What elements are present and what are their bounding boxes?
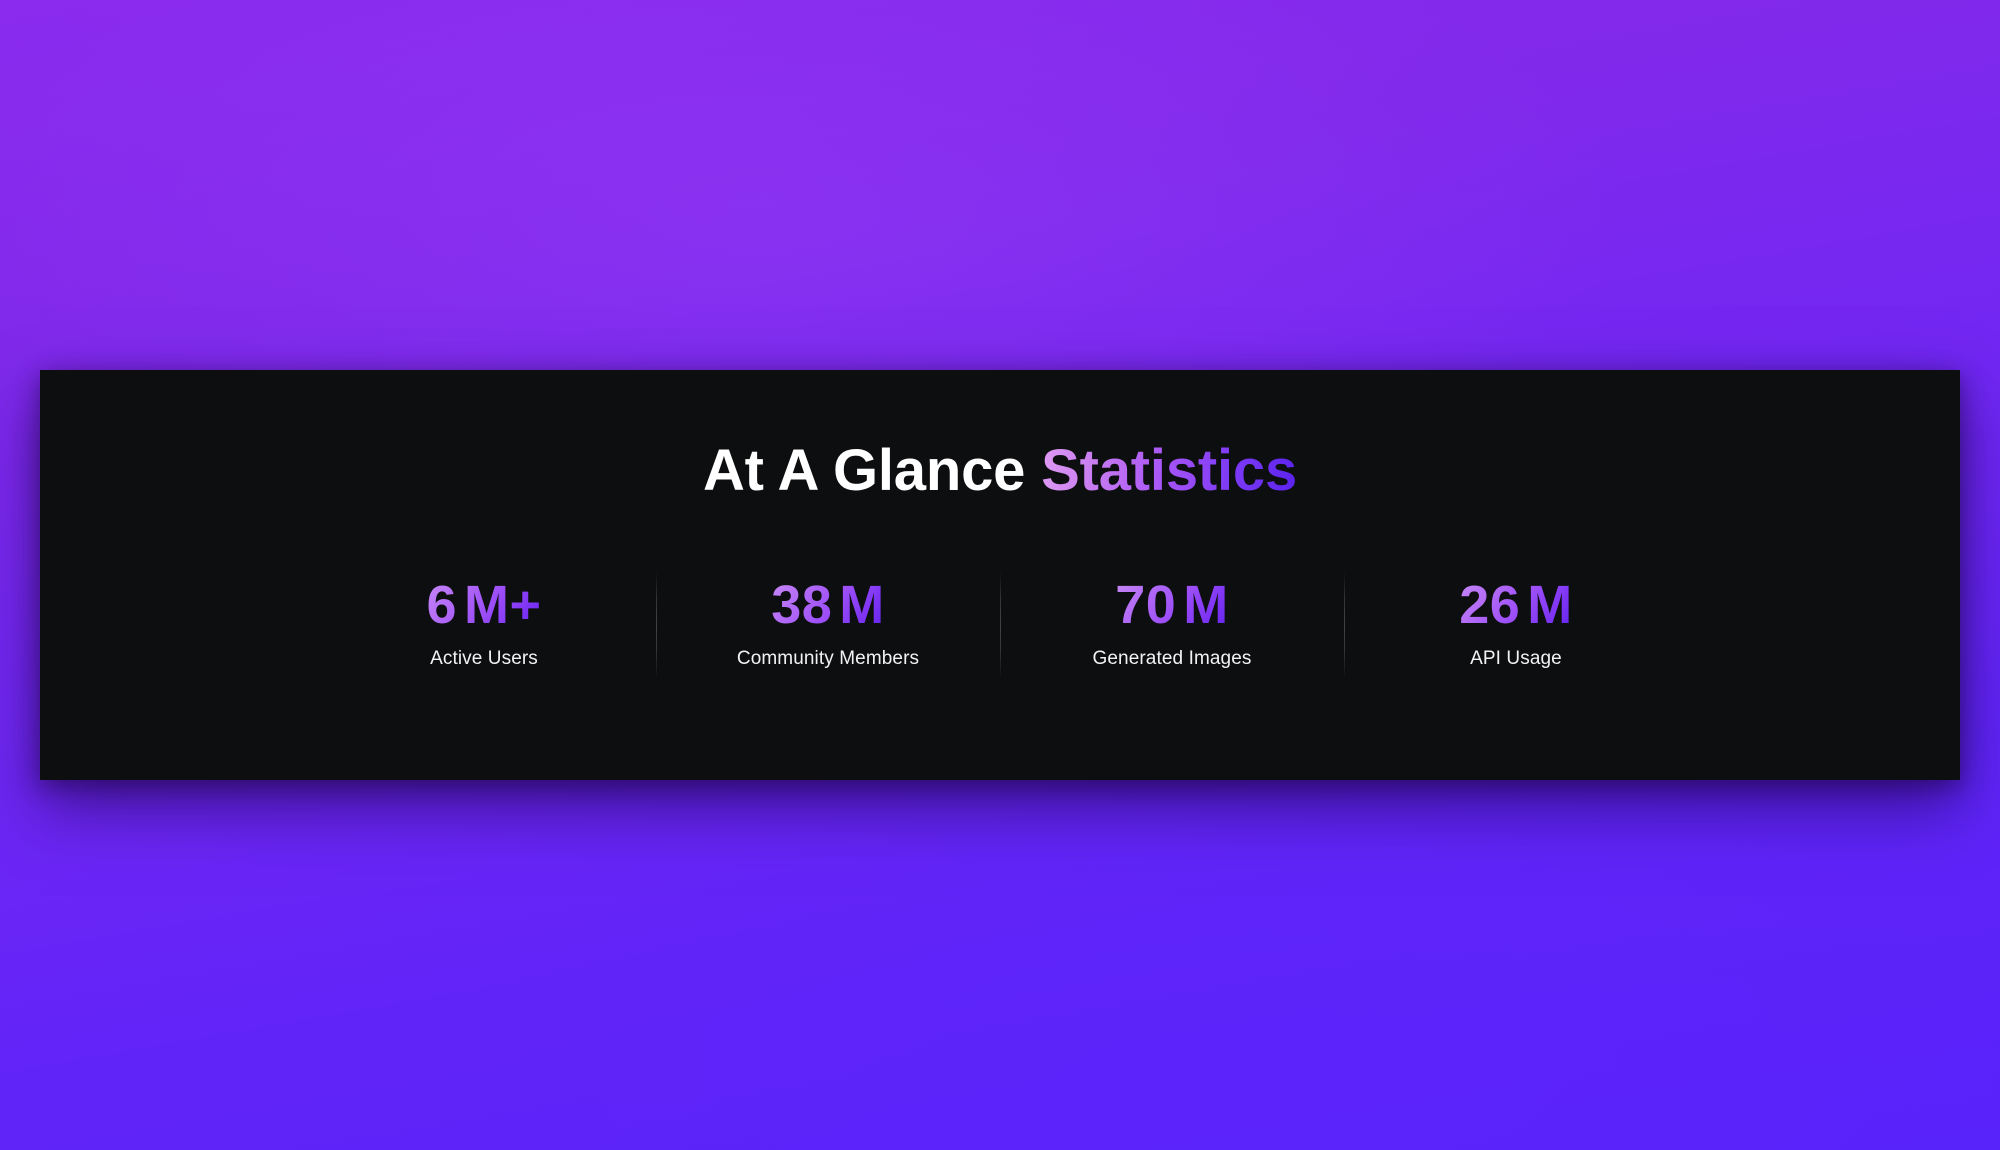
stat-unit-generated-images: M — [1183, 575, 1228, 635]
statistics-panel-content: At A Glance Statistics 6M+ Active Users … — [40, 370, 1960, 780]
stat-label-generated-images: Generated Images — [1093, 648, 1252, 670]
stat-label-api-usage: API Usage — [1470, 648, 1562, 670]
page-title-accent: Statistics — [1041, 438, 1297, 503]
page-title-plain: At A Glance — [703, 438, 1025, 503]
stat-number-community-members: 38 — [771, 575, 832, 635]
stats-row: 6M+ Active Users 38M Community Members 7… — [313, 570, 1688, 680]
page-title: At A Glance Statistics — [703, 442, 1297, 500]
stat-label-community-members: Community Members — [737, 648, 919, 670]
stat-number-api-usage: 26 — [1459, 575, 1520, 635]
stat-block-api-usage: 26M API Usage — [1345, 570, 1688, 680]
stat-block-generated-images: 70M Generated Images — [1001, 570, 1344, 680]
stat-unit-api-usage: M — [1527, 575, 1572, 635]
stat-value-api-usage: 26M — [1459, 576, 1573, 634]
stat-unit-active-users: M+ — [464, 575, 542, 635]
stat-value-active-users: 6M+ — [426, 576, 541, 634]
stat-value-generated-images: 70M — [1115, 576, 1229, 634]
stat-block-community-members: 38M Community Members — [657, 570, 1000, 680]
stat-unit-community-members: M — [839, 575, 884, 635]
page-title-space — [1025, 438, 1041, 503]
statistics-panel: At A Glance Statistics 6M+ Active Users … — [40, 370, 1960, 780]
stat-value-community-members: 38M — [771, 576, 885, 634]
stat-block-active-users: 6M+ Active Users — [313, 570, 656, 680]
stat-label-active-users: Active Users — [430, 648, 538, 670]
stat-number-generated-images: 70 — [1115, 575, 1176, 635]
stat-number-active-users: 6 — [426, 575, 457, 635]
